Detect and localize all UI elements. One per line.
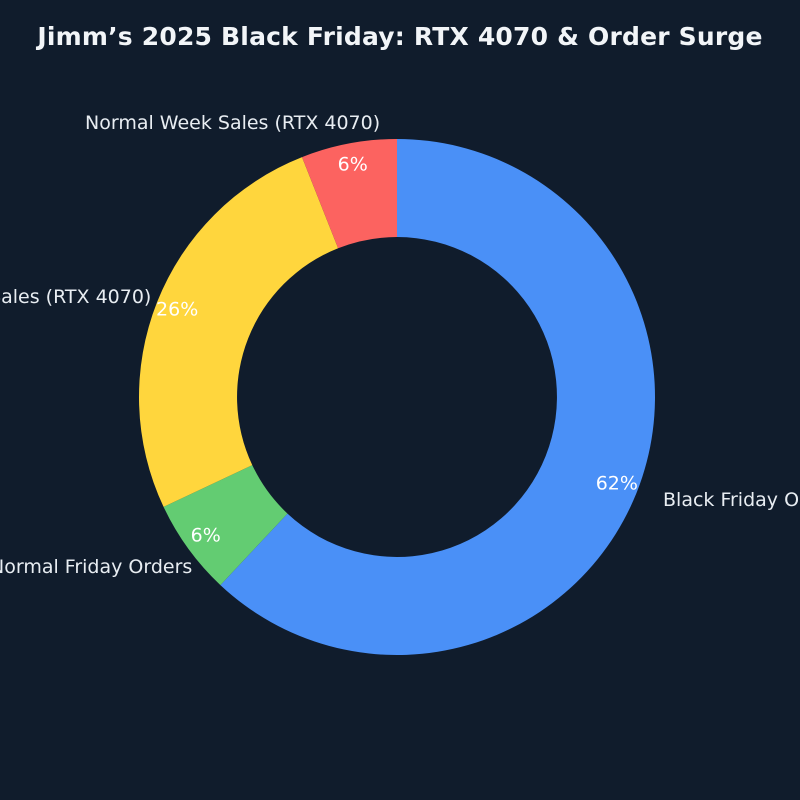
- slice-percent-normal-week-sales: 6%: [338, 153, 368, 175]
- chart-canvas: Jimm’s 2025 Black Friday: RTX 4070 & Ord…: [0, 0, 800, 800]
- slice-percent-black-friday-orders: 62%: [596, 473, 638, 495]
- slice-label-black-friday-sales: Black Friday Sales (RTX 4070): [0, 286, 151, 308]
- slice-label-normal-friday-orders: Normal Friday Orders: [0, 556, 192, 578]
- pie-slice-black-friday-sales[interactable]: [139, 157, 338, 507]
- slice-label-normal-week-sales: Normal Week Sales (RTX 4070): [85, 112, 380, 134]
- slice-percent-normal-friday-orders: 6%: [191, 524, 221, 546]
- slice-percent-black-friday-sales: 26%: [156, 298, 198, 320]
- slice-label-black-friday-orders: Black Friday Orders: [663, 489, 800, 511]
